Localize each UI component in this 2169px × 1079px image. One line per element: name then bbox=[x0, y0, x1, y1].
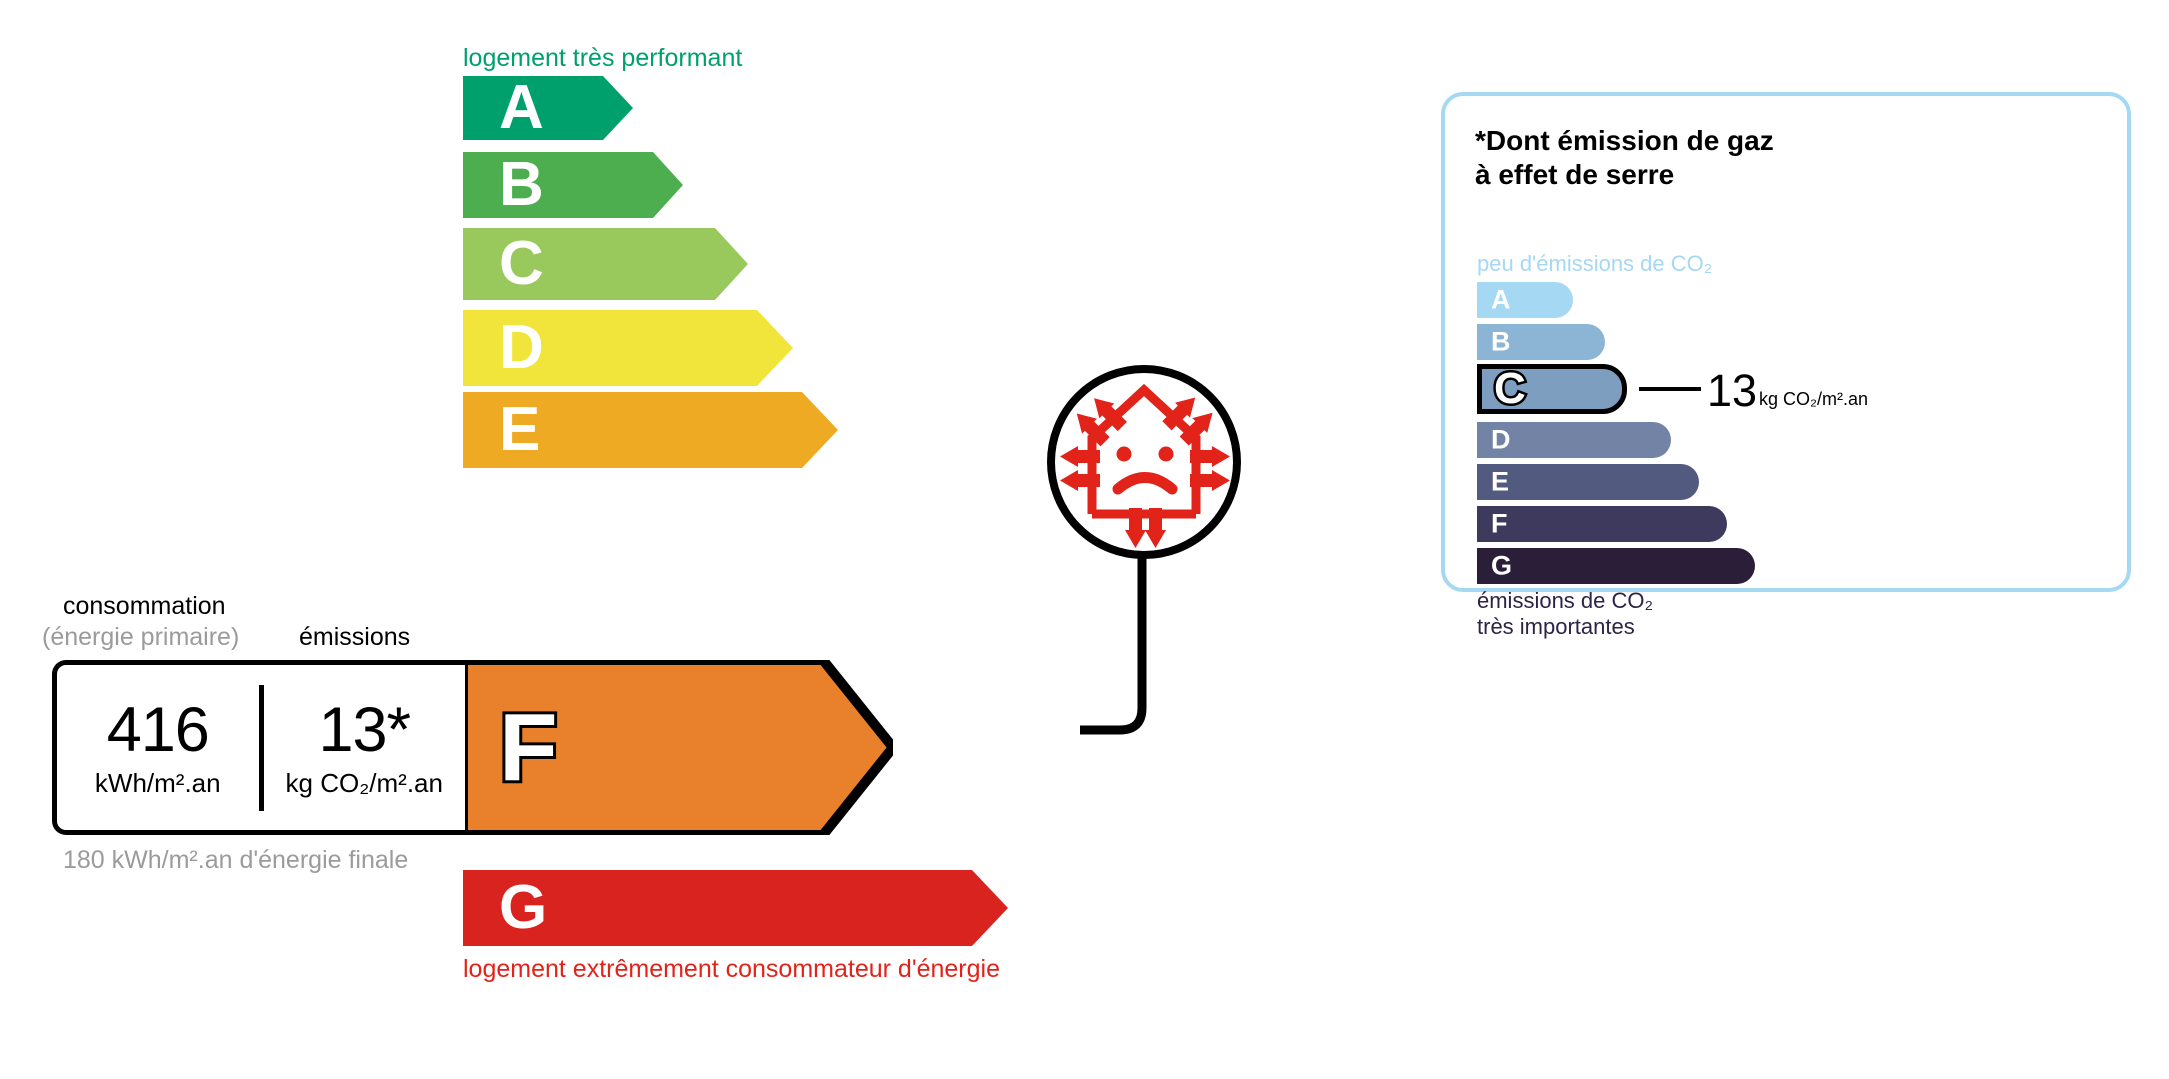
badge-connector-line bbox=[1080, 530, 1250, 750]
co2-bar-d: D bbox=[1477, 422, 1671, 458]
co2-bar-e: E bbox=[1477, 464, 1699, 500]
co2-bar-b: B bbox=[1477, 324, 1605, 360]
co2-bar-a-letter: A bbox=[1491, 287, 1511, 314]
co2-bar-b-letter: B bbox=[1491, 329, 1511, 356]
energy-band-a-shape bbox=[463, 76, 633, 140]
emissions-unit: kg CO₂/m².an bbox=[264, 770, 466, 796]
scale-top-caption: logement très performant bbox=[463, 44, 742, 73]
house-sad-face-heat-loss-icon bbox=[1044, 362, 1244, 562]
co2-callout-value: 13 bbox=[1707, 368, 1757, 413]
co2-bar-row-d[interactable]: D bbox=[1477, 422, 1671, 458]
consumption-label: consommation bbox=[63, 592, 226, 621]
co2-bar-row-a[interactable]: A bbox=[1477, 282, 1573, 318]
energy-band-c-letter: C bbox=[499, 233, 544, 295]
co2-bar-row-f[interactable]: F bbox=[1477, 506, 1727, 542]
emissions-value: 13* bbox=[264, 699, 466, 762]
energy-band-e-letter: E bbox=[499, 399, 540, 461]
energy-band-a[interactable]: A bbox=[463, 76, 633, 140]
scale-bottom-caption: logement extrêmement consommateur d'éner… bbox=[463, 955, 1000, 984]
energy-band-f[interactable]: F bbox=[463, 660, 893, 835]
co2-bar-f: F bbox=[1477, 506, 1727, 542]
co2-bar-g: G bbox=[1477, 548, 1755, 584]
co2-bar-row-b[interactable]: B bbox=[1477, 324, 1605, 360]
energy-band-b[interactable]: B bbox=[463, 152, 683, 218]
co2-emissions-panel: *Dont émission de gaz à effet de serre p… bbox=[1441, 92, 2131, 592]
energy-band-d[interactable]: D bbox=[463, 310, 793, 386]
energy-band-d-letter: D bbox=[499, 317, 544, 379]
primary-energy-sublabel: (énergie primaire) bbox=[42, 623, 239, 652]
energy-band-e[interactable]: E bbox=[463, 392, 838, 468]
value-box: 416 kWh/m².an 13* kg CO₂/m².an bbox=[52, 660, 465, 835]
co2-bar-f-letter: F bbox=[1491, 511, 1508, 538]
consumption-value: 416 bbox=[57, 699, 259, 762]
consumption-unit: kWh/m².an bbox=[57, 770, 259, 796]
co2-top-caption: peu d'émissions de CO₂ bbox=[1477, 251, 1712, 277]
energy-band-b-letter: B bbox=[499, 154, 544, 216]
emissions-value-cell: 13* kg CO₂/m².an bbox=[264, 685, 466, 811]
co2-bar-c: C bbox=[1477, 364, 1627, 414]
co2-bar-e-letter: E bbox=[1491, 469, 1509, 496]
co2-bar-row-c[interactable]: C bbox=[1477, 364, 1627, 414]
co2-bar-g-letter: G bbox=[1491, 553, 1512, 580]
co2-bar-a: A bbox=[1477, 282, 1573, 318]
co2-bar-c-letter: C bbox=[1494, 367, 1526, 411]
co2-panel-title: *Dont émission de gaz à effet de serre bbox=[1475, 124, 1774, 191]
final-energy-label: 180 kWh/m².an d'énergie finale bbox=[63, 845, 408, 876]
emissions-label: émissions bbox=[299, 623, 410, 652]
consumption-value-cell: 416 kWh/m².an bbox=[57, 685, 264, 811]
co2-bottom-caption: émissions de CO₂ très importantes bbox=[1477, 588, 1653, 641]
energy-band-b-shape bbox=[463, 152, 683, 218]
co2-callout-line bbox=[1639, 387, 1701, 391]
energy-band-a-letter: A bbox=[499, 77, 544, 139]
energy-band-f-letter: F bbox=[499, 700, 558, 796]
co2-bar-row-e[interactable]: E bbox=[1477, 464, 1699, 500]
energy-band-g-letter: G bbox=[499, 877, 547, 939]
energy-band-g[interactable]: G bbox=[463, 870, 1008, 946]
co2-callout-unit: kg CO₂/m².an bbox=[1759, 390, 1868, 408]
co2-bar-d-letter: D bbox=[1491, 427, 1511, 454]
co2-bar-row-g[interactable]: G bbox=[1477, 548, 1755, 584]
energy-band-c[interactable]: C bbox=[463, 228, 748, 300]
energy-performance-scale: logement très performant A B C D E bbox=[0, 0, 1300, 1079]
